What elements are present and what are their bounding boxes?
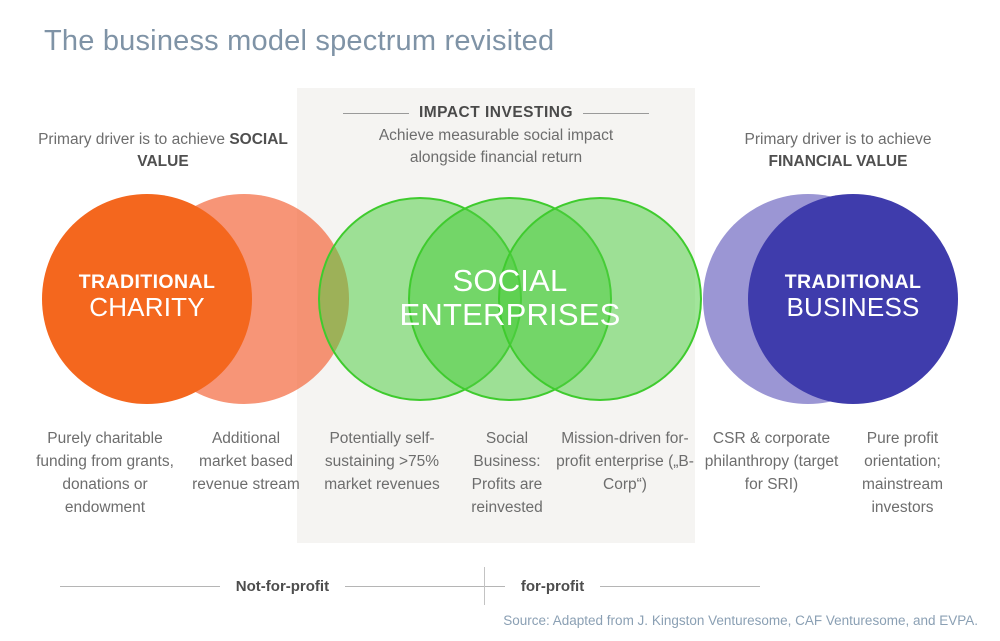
description-pure-profit: Pure profit orientation; mainstream inve… [840, 428, 965, 520]
description-mission-driven: Mission-driven for-profit enterprise („B… [556, 428, 694, 497]
diagram-canvas: The business model spectrum revisited IM… [0, 0, 1000, 641]
label-charity-bottom: CHARITY [47, 293, 247, 321]
label-traditional-business: TRADITIONAL BUSINESS [753, 272, 953, 321]
impact-rule-left [343, 113, 409, 114]
label-charity-top: TRADITIONAL [47, 272, 247, 293]
driver-right-prefix: Primary driver is to achieve [745, 131, 932, 148]
label-social-line1: SOCIAL [390, 264, 630, 298]
axis-label-for-profit: for-profit [505, 578, 600, 595]
driver-right-strong: FINANCIAL VALUE [769, 153, 908, 170]
driver-financial-value: Primary driver is to achieve FINANCIAL V… [706, 129, 970, 174]
impact-title-row: IMPACT INVESTING [297, 104, 695, 122]
description-self-sustaining: Potentially self-sustaining >75% market … [312, 428, 452, 497]
label-social-line2: ENTERPRISES [390, 298, 630, 332]
axis-rule-right [600, 586, 760, 587]
source-attribution: Source: Adapted from J. Kingston Venture… [0, 613, 978, 628]
axis-center-tick [484, 567, 485, 605]
description-social-business: Social Business: Profits are reinvested [452, 428, 562, 520]
label-business-bottom: BUSINESS [753, 293, 953, 321]
axis-rule-left [60, 586, 220, 587]
impact-investing-subtitle: Achieve measurable social impact alongsi… [297, 125, 695, 170]
impact-rule-right [583, 113, 649, 114]
axis-label-not-for-profit: Not-for-profit [220, 578, 345, 595]
description-market-revenue: Additional market based revenue stream [190, 428, 302, 497]
impact-investing-header: IMPACT INVESTING Achieve measurable soci… [297, 104, 695, 170]
impact-subtitle-line2: alongside financial return [410, 149, 582, 166]
axis-rule-middle [345, 586, 505, 587]
label-social-enterprises: SOCIAL ENTERPRISES [390, 264, 630, 332]
label-business-top: TRADITIONAL [753, 272, 953, 293]
description-charitable-funding: Purely charitable funding from grants, d… [25, 428, 185, 520]
impact-subtitle-line1: Achieve measurable social impact [379, 127, 613, 144]
impact-investing-title: IMPACT INVESTING [419, 104, 573, 122]
driver-social-value: Primary driver is to achieve SOCIAL VALU… [38, 129, 288, 174]
profit-axis: Not-for-profit for-profit [60, 576, 760, 596]
description-csr-philanthropy: CSR & corporate philanthropy (target for… [700, 428, 843, 497]
page-title: The business model spectrum revisited [44, 25, 554, 58]
driver-left-prefix: Primary driver is to achieve [38, 131, 229, 148]
label-traditional-charity: TRADITIONAL CHARITY [47, 272, 247, 321]
